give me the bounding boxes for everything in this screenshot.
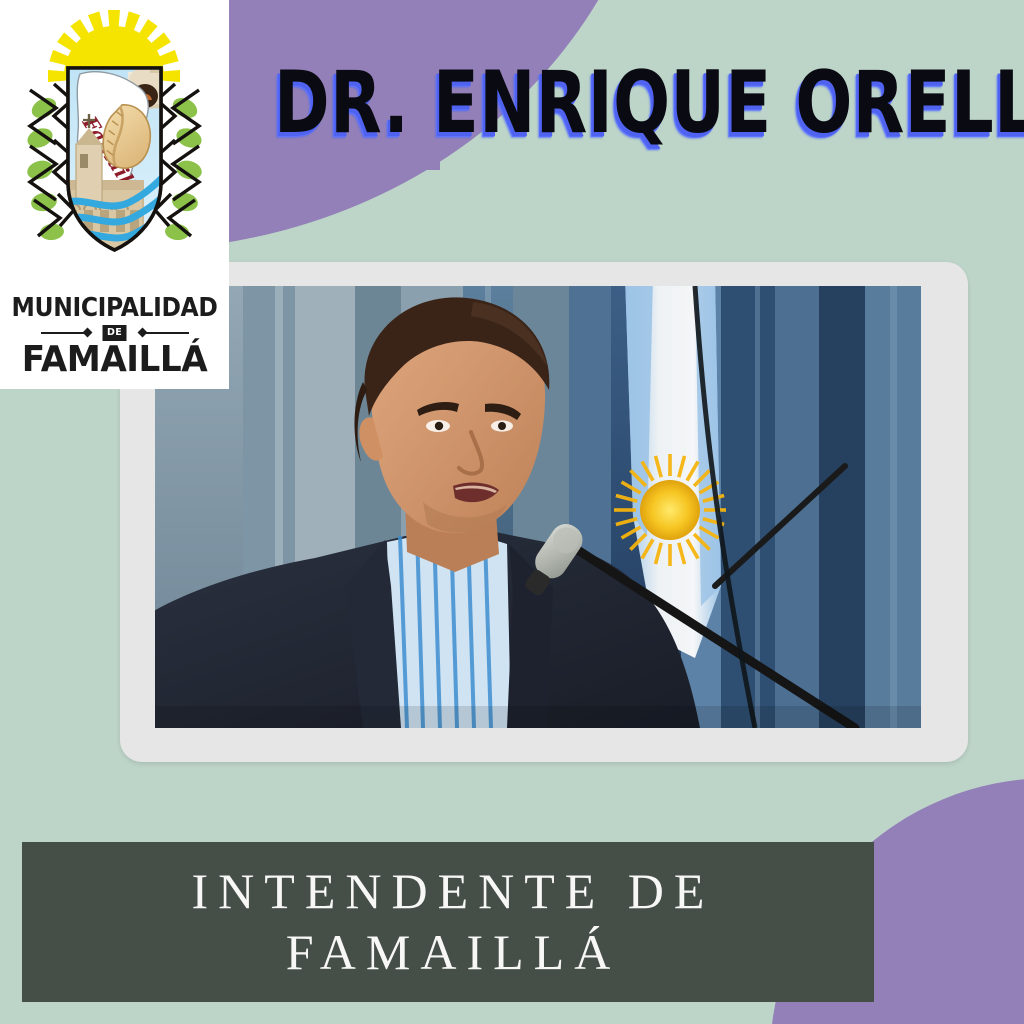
divider-diamond-left (82, 328, 92, 338)
divider-diamond-right (137, 328, 147, 338)
municipality-logo-card: Famaillá (0, 0, 229, 389)
coat-of-arms-icon: Famaillá (10, 4, 219, 294)
portrait-photo (155, 286, 921, 728)
photo-frame (120, 262, 968, 762)
portrait-photo-graphic (155, 286, 921, 728)
banner-line-1: INTENDENTE DE (182, 861, 715, 922)
municipality-logo-text: MUNICIPALIDAD DE FAMAILLÁ (0, 296, 229, 378)
page-title: DR. ENRIQUE ORELLANA (274, 62, 843, 145)
subtitle-banner: INTENDENTE DE FAMAILLÁ (22, 842, 874, 1002)
logo-line-1: MUNICIPALIDAD (9, 296, 220, 322)
poster-canvas: DR. ENRIQUE ORELLANA (0, 0, 1024, 1024)
banner-line-2: FAMAILLÁ (276, 922, 621, 983)
coat-of-arms-graphic: Famaillá (10, 4, 219, 294)
logo-line-2: FAMAILLÁ (6, 342, 224, 379)
